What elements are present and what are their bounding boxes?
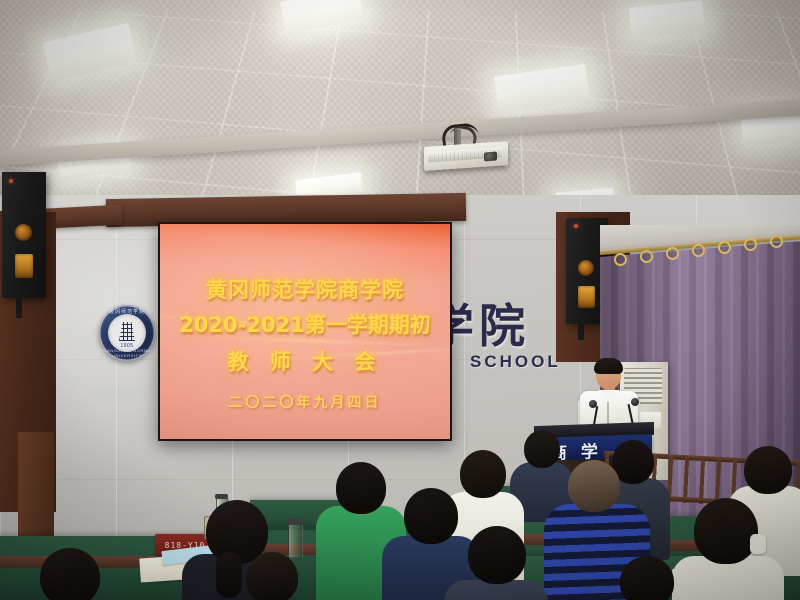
audience-ponytail xyxy=(216,552,242,598)
speaker-bracket-right xyxy=(578,322,584,340)
audience-head xyxy=(620,556,674,600)
curtain-ring xyxy=(770,235,783,248)
tea-cup-lid xyxy=(215,494,228,499)
audience-head xyxy=(336,462,386,514)
audience-head xyxy=(460,450,506,498)
ceiling-shading xyxy=(0,0,800,205)
audience-head xyxy=(246,552,298,600)
ceiling xyxy=(0,0,800,205)
audience-head xyxy=(568,460,620,512)
slide-title-line-1: 黄冈师范学院商学院 xyxy=(160,274,450,304)
microphone-head xyxy=(589,400,597,408)
curtain-ring xyxy=(692,244,705,257)
meeting-room-photo: 学院 SCHOOL 黄冈师范学院 1905 HUANGGANG NORMAL U… xyxy=(0,0,800,600)
tea-cup-lid xyxy=(287,519,302,525)
university-emblem: 黄冈师范学院 1905 HUANGGANG NORMAL UNIVERSITY xyxy=(99,305,155,361)
audience-head xyxy=(524,430,560,468)
curtain-ring xyxy=(640,250,653,263)
audience-head xyxy=(404,488,458,544)
projection-screen-frame: 黄冈师范学院商学院 2020-2021第一学期期初 教 师 大 会 二〇二〇年九… xyxy=(158,222,452,441)
speaker-bracket-left xyxy=(16,296,22,318)
slide-title-line-2: 2020-2021第一学期期初 xyxy=(160,309,450,339)
presenter-hair xyxy=(594,358,623,374)
audience-head xyxy=(694,498,758,564)
speaker-led xyxy=(574,224,578,228)
audience-head xyxy=(40,548,100,600)
audience-head xyxy=(468,526,526,584)
projector-mount xyxy=(454,128,461,146)
speaker-port xyxy=(15,254,33,278)
wall-speaker-left xyxy=(2,172,46,298)
speaker-port xyxy=(578,286,595,308)
curtain-ring xyxy=(666,247,679,260)
slide-date: 二〇二〇年九月四日 xyxy=(160,392,450,412)
speaker-cone xyxy=(578,260,594,276)
curtain-ring xyxy=(614,253,627,266)
curtain-ring xyxy=(718,241,731,254)
emblem-ring xyxy=(99,305,155,361)
ceiling-projector xyxy=(424,138,508,168)
speaker-cone xyxy=(15,224,32,241)
audience-head xyxy=(744,446,792,494)
projection-screen: 黄冈师范学院商学院 2020-2021第一学期期初 教 师 大 会 二〇二〇年九… xyxy=(160,224,450,439)
curtain-ring xyxy=(744,238,757,251)
wall-sign-english: SCHOOL xyxy=(470,352,561,372)
face-mask xyxy=(750,534,766,554)
projector-lens xyxy=(484,152,497,162)
speaker-led xyxy=(9,179,13,183)
slide-title-line-3: 教 师 大 会 xyxy=(160,346,450,376)
microphone-head xyxy=(631,398,639,406)
tea-cup xyxy=(288,524,303,558)
